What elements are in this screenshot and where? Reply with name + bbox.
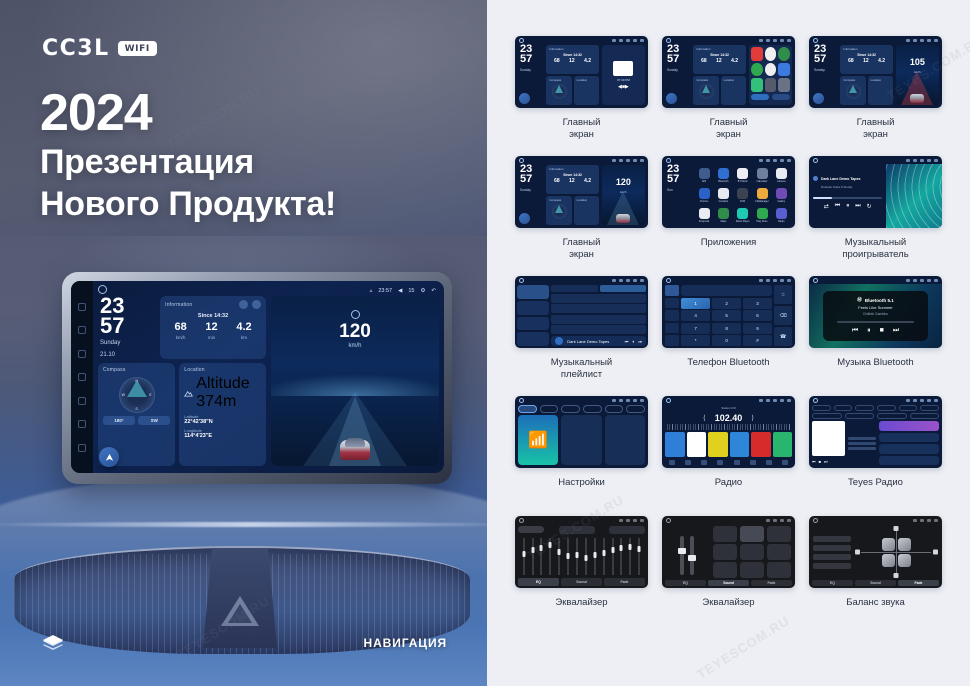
home-icon[interactable] bbox=[98, 285, 107, 294]
mp-track-artist: Rockstar Drake Ft Roddy bbox=[821, 185, 860, 189]
stat-speed: 68 km/h bbox=[174, 322, 186, 340]
eq-tab-fade[interactable]: Fade bbox=[751, 580, 792, 586]
stop-icon[interactable]: ■ bbox=[819, 459, 821, 464]
bt-track-title: Feels Like Summer bbox=[858, 305, 892, 310]
thumbnail-radio[interactable]: Station FM ⟨ 102.40 ⟩ bbox=[662, 396, 795, 468]
thumbnail-bluetooth-music[interactable]: Ⓜ Bluetooth 5.1 Feels Like Summer Childi… bbox=[809, 276, 942, 348]
dashboard-highlight-line bbox=[0, 522, 487, 527]
location-latitude: Latitude 22°42'38"N bbox=[184, 414, 261, 425]
navigation-arrow-icon bbox=[104, 452, 115, 463]
rail-button-volume-down[interactable] bbox=[78, 420, 86, 428]
gallery-item[interactable]: ⏮■⏭ Teyes Радио bbox=[809, 396, 942, 516]
home-left-column: 23 57 Sunday 21.10 Information bbox=[98, 296, 266, 466]
dial-key[interactable]: * bbox=[681, 335, 710, 346]
gallery-caption: Настройки bbox=[558, 477, 605, 489]
information-title: Information bbox=[165, 302, 192, 308]
wifi-icon: ▵ bbox=[370, 288, 373, 294]
radio-tuning-scale[interactable] bbox=[667, 424, 790, 430]
sound-preset-buttons[interactable] bbox=[713, 526, 792, 578]
rail-button-prev[interactable] bbox=[78, 303, 86, 311]
gallery-caption: Главный экран bbox=[563, 117, 601, 141]
clock-date: 21.10 bbox=[100, 352, 155, 360]
gear-icon[interactable]: ⚙ bbox=[420, 288, 425, 294]
thumbnail-bluetooth-phone[interactable]: 1 2 3 4 5 6 7 8 9 * 0 # bbox=[662, 276, 795, 348]
prev-icon[interactable]: ⏮ bbox=[625, 339, 629, 344]
eq-preset-a[interactable] bbox=[559, 526, 595, 534]
gallery-caption: Главный экран bbox=[857, 117, 895, 141]
thumb-speed-value: 105 bbox=[910, 57, 925, 67]
next-icon[interactable]: ⏭ bbox=[824, 459, 828, 464]
eq-tab-eq[interactable]: EQ bbox=[812, 580, 853, 586]
mountain-icon bbox=[184, 390, 193, 397]
station-artwork bbox=[812, 421, 845, 456]
thumb-speed-value: 120 bbox=[616, 177, 631, 187]
eq-tab-sound[interactable]: Sound bbox=[708, 580, 749, 586]
eq-tab-eq[interactable]: EQ bbox=[518, 578, 559, 586]
screenshot-gallery: 2357Sunday InformationSince 14:3268124.2… bbox=[487, 0, 970, 686]
gallery-item[interactable]: 2357Sun Wifi Bluetooth BT Music Calculat… bbox=[662, 156, 795, 276]
balance-right-nub[interactable] bbox=[933, 550, 938, 555]
information-header: Information bbox=[165, 300, 261, 309]
logo-model: CC3L bbox=[42, 36, 110, 61]
home-widgets: 23 57 Sunday 21.10 Information bbox=[98, 296, 439, 466]
navigation-fab[interactable] bbox=[99, 447, 119, 467]
settings-traffic-card[interactable] bbox=[561, 415, 601, 465]
hero-headline: 2024 Презентация Нового Продукта! bbox=[40, 86, 336, 225]
stat-duration: 12 min bbox=[205, 322, 217, 340]
head-unit-side-buttons[interactable] bbox=[71, 281, 93, 473]
compass-dial: N S W E bbox=[119, 377, 155, 413]
gallery-item[interactable]: Dark Lane Demo Tapes Rockstar Drake Ft R… bbox=[809, 156, 942, 276]
car-avatar bbox=[340, 430, 370, 460]
clock-minutes: 57 bbox=[100, 316, 155, 336]
rail-button-next[interactable] bbox=[78, 326, 86, 334]
dial-key[interactable]: # bbox=[743, 335, 772, 346]
thumbnail-sound-balance[interactable]: EQSoundFade bbox=[809, 516, 942, 588]
rail-button-power[interactable] bbox=[78, 350, 86, 358]
backspace-icon[interactable]: ⌫ bbox=[774, 306, 792, 325]
dial-key[interactable]: 5 bbox=[712, 310, 741, 321]
hero-line-1: Презентация bbox=[40, 141, 336, 183]
next-icon[interactable]: ⏭ bbox=[893, 327, 899, 335]
rail-button-volume-up[interactable] bbox=[78, 444, 86, 452]
speed-mode-icon bbox=[351, 310, 360, 319]
dial-key[interactable]: 9 bbox=[743, 323, 772, 334]
dialpad[interactable]: 1 2 3 4 5 6 7 8 9 * 0 # bbox=[681, 298, 772, 346]
dial-key[interactable]: 0 bbox=[712, 335, 741, 346]
dial-key[interactable]: 2 bbox=[712, 298, 741, 309]
radio-band: Station FM bbox=[665, 405, 792, 413]
stat-duration-unit: min bbox=[205, 335, 217, 340]
gallery-item[interactable]: 📶 Настройки bbox=[515, 396, 648, 516]
shuffle-icon[interactable]: ⇄ bbox=[824, 203, 829, 210]
location-longitude: Longitude 114°4'23"E bbox=[184, 428, 261, 439]
bt-version: Bluetooth 5.1 bbox=[865, 298, 894, 303]
gallery-item[interactable]: 2357Sunday InformationSince 14:3268124.2… bbox=[809, 36, 942, 156]
layers-icon bbox=[40, 632, 66, 656]
dial-key[interactable]: 3 bbox=[743, 298, 772, 309]
repeat-icon[interactable]: ↻ bbox=[867, 203, 872, 210]
radio-presets[interactable] bbox=[665, 432, 792, 457]
bass-treble-sliders[interactable] bbox=[666, 526, 709, 578]
latitude-value: 22°42'38"N bbox=[184, 419, 261, 425]
presentation-slide: CC3L WIFI 2024 Презентация Нового Продук… bbox=[0, 0, 970, 686]
dial-key[interactable]: 1 bbox=[681, 298, 710, 309]
thumbnail-equalizer-presets[interactable]: EQSoundFade bbox=[662, 516, 795, 588]
eq-tab-fade[interactable]: Fade bbox=[898, 580, 939, 586]
hero-line-2: Нового Продукта! bbox=[40, 183, 336, 225]
bt-track-artist: Childish Gambino bbox=[863, 312, 888, 316]
gallery-item[interactable]: EQSoundFade Баланс звука bbox=[809, 516, 942, 636]
prev-icon[interactable]: ⏮ bbox=[812, 459, 816, 464]
eq-tab-eq[interactable]: EQ bbox=[665, 580, 706, 586]
hazard-triangle-inner bbox=[228, 604, 252, 623]
compass-w: W bbox=[122, 393, 125, 397]
eq-tab-sound[interactable]: Sound bbox=[561, 578, 602, 586]
thumbnail-home-screen-media[interactable]: 2357Sunday InformationSince 14:3268124.2… bbox=[515, 36, 648, 108]
location-title: Location bbox=[184, 367, 261, 373]
gallery-caption: Баланс звука bbox=[846, 597, 905, 609]
balance-pad[interactable] bbox=[855, 526, 939, 578]
stop-icon[interactable]: ■ bbox=[880, 327, 884, 335]
thumbnail-music-playlist[interactable]: Dark Lane Demo Tapes ⏮ ⏸ ⏭ bbox=[515, 276, 648, 348]
prev-station-icon[interactable]: ⟨ bbox=[703, 414, 706, 422]
thumbnail-applications[interactable]: 2357Sun Wifi Bluetooth BT Music Calculat… bbox=[662, 156, 795, 228]
left-hero-panel: CC3L WIFI 2024 Презентация Нового Продук… bbox=[0, 0, 487, 686]
status-time: 23:57 bbox=[378, 288, 392, 294]
compass-readouts: 180° SW bbox=[103, 416, 170, 425]
gallery-caption: Эквалайзер bbox=[702, 597, 754, 609]
mp-track-title: Dark Lane Demo Tapes bbox=[821, 177, 860, 181]
gallery-item[interactable]: 2357Sunday InformationSince 14:3268124.2… bbox=[662, 36, 795, 156]
navigation-label: НАВИГАЦИЯ bbox=[364, 636, 447, 650]
balance-presets[interactable] bbox=[813, 526, 851, 578]
clock-and-info-row: 23 57 Sunday 21.10 Information bbox=[98, 296, 266, 359]
eq-preset-b[interactable] bbox=[609, 526, 645, 534]
volume-level: 15 bbox=[408, 288, 414, 294]
play-pause-icon[interactable]: ⏸ bbox=[867, 327, 871, 335]
gallery-caption: Телефон Bluetooth bbox=[687, 357, 769, 369]
information-stats: 68 km/h 12 min 4.2 bbox=[165, 322, 261, 340]
rail-button-back[interactable] bbox=[78, 397, 86, 405]
prev-icon[interactable]: ⏮ bbox=[852, 327, 858, 335]
compass-s: S bbox=[135, 407, 137, 411]
preset-selector[interactable] bbox=[518, 526, 544, 533]
bt-seek-bar[interactable] bbox=[837, 321, 915, 323]
compass-n: N bbox=[135, 379, 138, 383]
gallery-item[interactable]: Ⓜ Bluetooth 5.1 Feels Like Summer Childi… bbox=[809, 276, 942, 396]
compass-e: E bbox=[149, 393, 151, 397]
balance-left-nub[interactable] bbox=[855, 550, 860, 555]
pause-icon[interactable]: ⏸ bbox=[846, 203, 849, 210]
gallery-item[interactable]: Station FM ⟨ 102.40 ⟩ Радио bbox=[662, 396, 795, 516]
gallery-caption: Главный экран bbox=[710, 117, 748, 141]
gallery-item[interactable]: Dark Lane Demo Tapes ⏮ ⏸ ⏭ Музыкальный п… bbox=[515, 276, 648, 396]
head-unit-screen[interactable]: ▵ 23:57 ◀ 15 ⚙ ↶ 23 57 bbox=[71, 281, 444, 473]
clock-widget: 23 57 Sunday 21.10 bbox=[98, 296, 155, 359]
hazard-light-button[interactable] bbox=[203, 548, 277, 648]
information-actions[interactable] bbox=[239, 300, 261, 309]
logo-wifi-badge: WIFI bbox=[118, 41, 157, 56]
eq-tab-sound[interactable]: Sound bbox=[855, 580, 896, 586]
gallery-caption: Музыкальный плейлист bbox=[551, 357, 612, 381]
head-unit-bezel: ▵ 23:57 ◀ 15 ⚙ ↶ 23 57 bbox=[62, 272, 452, 484]
altitude-label: Altitude bbox=[196, 375, 249, 393]
information-widget[interactable]: Information Since 14:32 bbox=[160, 296, 266, 359]
next-icon[interactable]: ⏭ bbox=[855, 203, 860, 210]
gallery-item[interactable]: EQSoundFade Эквалайзер bbox=[662, 516, 795, 636]
compass-heading: 180° bbox=[103, 416, 135, 425]
stat-distance-unit: km bbox=[236, 335, 251, 340]
speed-unit: km/h bbox=[271, 343, 439, 349]
prev-icon[interactable]: ⏮ bbox=[835, 203, 840, 210]
album-visualizer bbox=[886, 164, 942, 228]
gallery-caption: Музыка Bluetooth bbox=[837, 357, 913, 369]
stat-duration-value: 12 bbox=[205, 322, 217, 333]
stat-distance: 4.2 km bbox=[236, 322, 251, 340]
compass-direction: SW bbox=[138, 416, 170, 425]
dial-key[interactable]: 7 bbox=[681, 323, 710, 334]
balance-front-nub[interactable] bbox=[894, 526, 899, 531]
stat-speed-unit: km/h bbox=[174, 335, 186, 340]
radio-frequency: 102.40 bbox=[715, 413, 743, 423]
stat-distance-value: 4.2 bbox=[236, 322, 251, 333]
bluetooth-icon: Ⓜ bbox=[857, 297, 862, 303]
gallery-caption: Музыкальный проигрыватель bbox=[842, 237, 908, 261]
location-widget[interactable]: Location Altitude 374m bbox=[179, 363, 266, 466]
thumbnail-home-screen-drive-red[interactable]: 2357Sunday InformationSince 14:3268124.2… bbox=[809, 36, 942, 108]
equalizer-band-sliders[interactable] bbox=[518, 534, 645, 578]
gallery-caption: Радио bbox=[715, 477, 742, 489]
thumbnail-settings[interactable]: 📶 bbox=[515, 396, 648, 468]
back-arrow-icon[interactable]: ↶ bbox=[431, 288, 436, 294]
information-refresh-icon[interactable] bbox=[239, 300, 248, 309]
next-station-icon[interactable]: ⟩ bbox=[751, 414, 754, 422]
longitude-value: 114°4'23"E bbox=[184, 433, 261, 439]
status-bar: ▵ 23:57 ◀ 15 ⚙ ↶ bbox=[98, 285, 439, 296]
stat-speed-value: 68 bbox=[174, 322, 186, 333]
thumbnail-teyes-radio[interactable]: ⏮■⏭ bbox=[809, 396, 942, 468]
settings-wifi-card[interactable]: 📶 bbox=[518, 415, 558, 465]
app-icon-grid[interactable]: Wifi Bluetooth BT Music Calculator Camer… bbox=[693, 165, 792, 225]
hero-year: 2024 bbox=[40, 86, 336, 141]
thumbnail-home-screen-speed[interactable]: 2357Sunday InformationSince 14:3268124.2… bbox=[515, 156, 648, 228]
information-expand-icon[interactable] bbox=[252, 300, 261, 309]
altitude-value: 374m bbox=[196, 393, 249, 411]
car-windshield bbox=[345, 438, 365, 447]
gallery-caption: Teyes Радио bbox=[848, 477, 903, 489]
dial-key[interactable]: 6 bbox=[743, 310, 772, 321]
thumbnail-equalizer-bands[interactable]: EQSoundFade bbox=[515, 516, 648, 588]
phone-number-field[interactable] bbox=[681, 285, 772, 296]
call-icon[interactable]: ☎ bbox=[774, 327, 792, 346]
compass-location-row: Compass N S W E 180° bbox=[98, 363, 266, 466]
playlist-now-playing: Dark Lane Demo Tapes bbox=[567, 339, 609, 344]
information-since: Since 14:32 bbox=[165, 313, 261, 319]
gallery-item[interactable]: 2357Sunday InformationSince 14:3268124.2… bbox=[515, 156, 648, 276]
gallery-item[interactable]: 2357Sunday InformationSince 14:3268124.2… bbox=[515, 36, 648, 156]
dial-key[interactable]: 8 bbox=[712, 323, 741, 334]
drive-widget[interactable]: 120 km/h bbox=[271, 296, 439, 466]
location-altitude: Altitude 374m bbox=[184, 375, 261, 411]
volume-icon[interactable]: ◀ bbox=[398, 288, 402, 294]
gallery-caption: Эквалайзер bbox=[555, 597, 607, 609]
settings-more-card[interactable] bbox=[605, 415, 645, 465]
gallery-item[interactable]: 1 2 3 4 5 6 7 8 9 * 0 # bbox=[662, 276, 795, 396]
rail-button-home[interactable] bbox=[78, 373, 86, 381]
gallery-item[interactable]: EQSoundFade Эквалайзер bbox=[515, 516, 648, 636]
speed-readout: 120 km/h bbox=[271, 310, 439, 349]
product-logo: CC3L WIFI bbox=[42, 36, 157, 61]
thumbnail-music-player[interactable]: Dark Lane Demo Tapes Rockstar Drake Ft R… bbox=[809, 156, 942, 228]
gallery-caption: Главный экран bbox=[563, 237, 601, 261]
speed-value: 120 bbox=[271, 322, 439, 341]
balance-rear-nub[interactable] bbox=[894, 573, 899, 578]
gallery-caption: Приложения bbox=[701, 237, 757, 249]
dial-key[interactable]: 4 bbox=[681, 310, 710, 321]
compass-title: Compass bbox=[103, 367, 170, 373]
clock-day: Sunday bbox=[100, 340, 155, 348]
favorite-icon[interactable]: ☆ bbox=[774, 285, 792, 304]
head-unit-content: ▵ 23:57 ◀ 15 ⚙ ↶ 23 57 bbox=[93, 281, 444, 473]
next-icon[interactable]: ⏭ bbox=[638, 339, 642, 344]
thumbnail-home-screen-apps[interactable]: 2357Sunday InformationSince 14:3268124.2… bbox=[662, 36, 795, 108]
eq-tab-fade[interactable]: Fade bbox=[604, 578, 645, 586]
pause-icon[interactable]: ⏸ bbox=[632, 339, 634, 344]
